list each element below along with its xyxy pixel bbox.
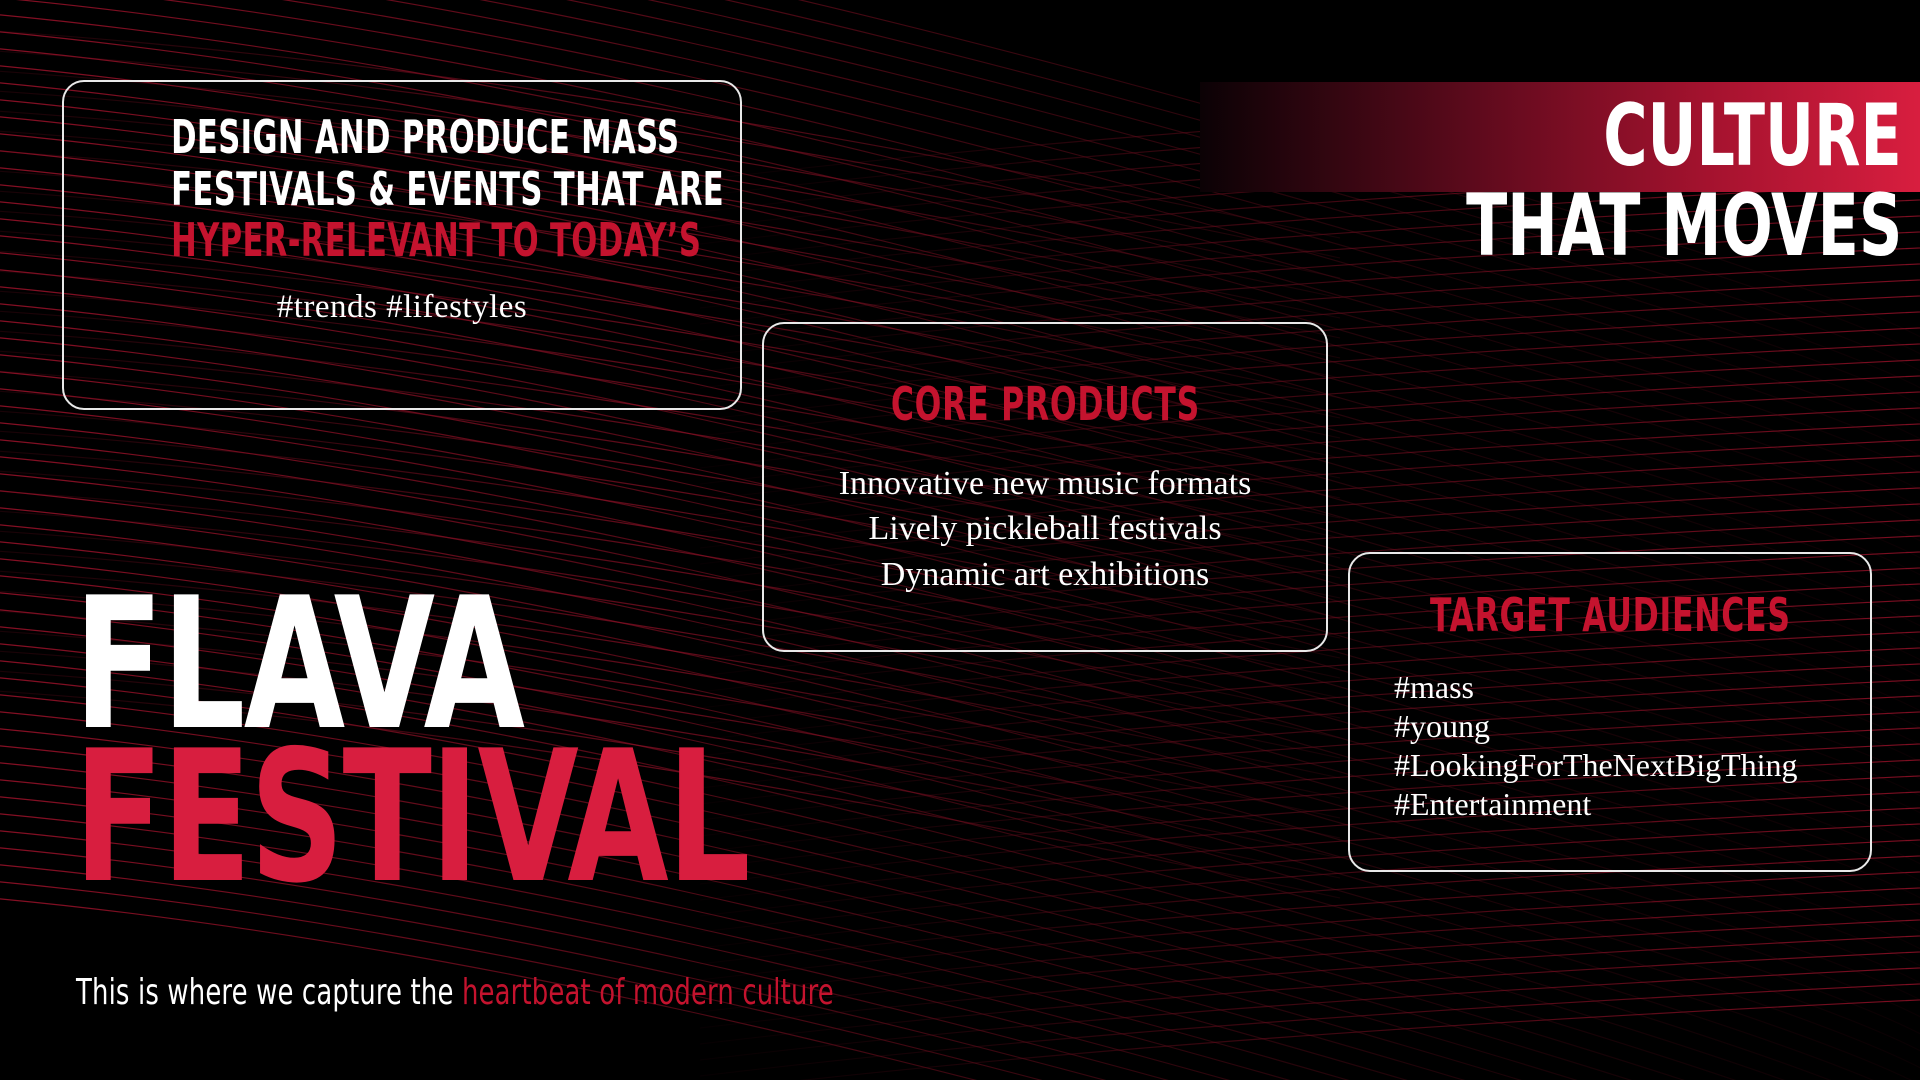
statement-content: DESIGN AND PRODUCE MASS FESTIVALS & EVEN… <box>64 82 740 326</box>
list-item: Lively pickleball festivals <box>839 506 1252 551</box>
target-audiences-list: #mass #young #LookingForTheNextBigThing … <box>1394 668 1826 824</box>
statement-line-2: FESTIVALS & EVENTS THAT ARE <box>171 164 633 216</box>
brand-lockup: FLAVA FESTIVAL <box>74 588 918 894</box>
statement-card: DESIGN AND PRODUCE MASS FESTIVALS & EVEN… <box>62 80 742 410</box>
target-audiences-content: TARGET AUDIENCES #mass #young #LookingFo… <box>1350 554 1870 870</box>
header-title-line1: CULTURE <box>1603 96 1902 178</box>
statement-line-1: DESIGN AND PRODUCE MASS <box>171 112 633 164</box>
list-item: #young <box>1394 707 1826 746</box>
brand-tagline: This is where we capture the heartbeat o… <box>76 972 834 1013</box>
list-item: #Entertainment <box>1394 785 1826 824</box>
statement-line-3-accent: HYPER-RELEVANT TO TODAY’S <box>171 215 633 267</box>
header-title-line2-wrap: THAT MOVES <box>1002 186 1902 268</box>
list-item: #mass <box>1394 668 1826 707</box>
core-products-list: Innovative new music formats Lively pick… <box>839 461 1252 597</box>
header-title-line2: THAT MOVES <box>1466 186 1902 268</box>
target-audiences-card: TARGET AUDIENCES #mass #young #LookingFo… <box>1348 552 1872 872</box>
list-item: Innovative new music formats <box>839 461 1252 506</box>
tagline-highlight: heartbeat of modern culture <box>462 972 834 1013</box>
statement-hashtags: #trends #lifestyles <box>90 289 714 326</box>
tagline-prefix: This is where we capture the <box>76 972 462 1013</box>
target-audiences-title: TARGET AUDIENCES <box>1430 588 1791 642</box>
header-title-line1-wrap: CULTURE <box>1002 96 1902 178</box>
list-item: #LookingForTheNextBigThing <box>1394 746 1826 785</box>
brand-name-secondary: FESTIVAL <box>74 741 749 894</box>
slide-canvas: CULTURE THAT MOVES DESIGN AND PRODUCE MA… <box>0 0 1920 1080</box>
core-products-title: CORE PRODUCTS <box>890 377 1199 431</box>
